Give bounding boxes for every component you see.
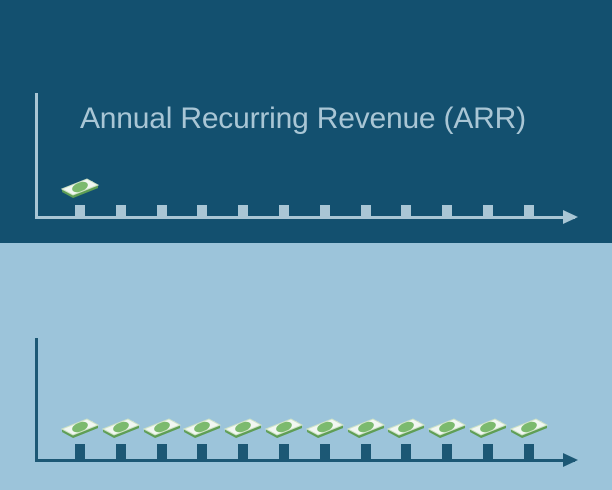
money-stack-icon xyxy=(346,416,386,442)
axis-tick xyxy=(320,444,330,460)
axis-tick xyxy=(401,205,411,217)
axis-tick xyxy=(75,205,85,217)
axis-tick xyxy=(197,205,207,217)
x-axis-arrowhead-arr xyxy=(563,210,578,224)
axis-tick xyxy=(442,205,452,217)
money-stack-icon xyxy=(264,416,304,442)
axis-tick xyxy=(279,205,289,217)
panel-mrr: Monthly Recurring Revenue (MRR) xyxy=(0,243,612,490)
axis-tick xyxy=(401,444,411,460)
axis-tick xyxy=(361,205,371,217)
money-stack-icon xyxy=(305,416,345,442)
money-stack-icon xyxy=(427,416,467,442)
axis-tick xyxy=(483,205,493,217)
axis-tick xyxy=(238,205,248,217)
money-stack-icon xyxy=(509,416,549,442)
axis-tick xyxy=(116,444,126,460)
y-axis-arr xyxy=(35,93,38,219)
axis-tick xyxy=(75,444,85,460)
money-stack-icon xyxy=(60,176,100,202)
axis-tick xyxy=(116,205,126,217)
money-stack-icon xyxy=(386,416,426,442)
axis-tick xyxy=(279,444,289,460)
money-stack-icon xyxy=(142,416,182,442)
arr-vs-mrr-infographic: Annual Recurring Revenue (ARR) Monthly R… xyxy=(0,0,612,490)
y-axis-mrr xyxy=(35,338,38,462)
money-stack-icon xyxy=(223,416,263,442)
axis-tick xyxy=(361,444,371,460)
axis-tick xyxy=(524,444,534,460)
x-axis-arrowhead-mrr xyxy=(563,453,578,467)
axis-tick xyxy=(524,205,534,217)
axis-tick xyxy=(238,444,248,460)
axis-tick xyxy=(483,444,493,460)
axis-tick xyxy=(157,444,167,460)
money-stack-icon xyxy=(60,416,100,442)
chart-title-arr: Annual Recurring Revenue (ARR) xyxy=(80,102,526,136)
axis-tick xyxy=(320,205,330,217)
money-stack-icon xyxy=(182,416,222,442)
panel-arr: Annual Recurring Revenue (ARR) xyxy=(0,0,612,243)
money-stack-icon xyxy=(468,416,508,442)
axis-tick xyxy=(157,205,167,217)
money-stack-icon xyxy=(101,416,141,442)
axis-tick xyxy=(197,444,207,460)
axis-tick xyxy=(442,444,452,460)
